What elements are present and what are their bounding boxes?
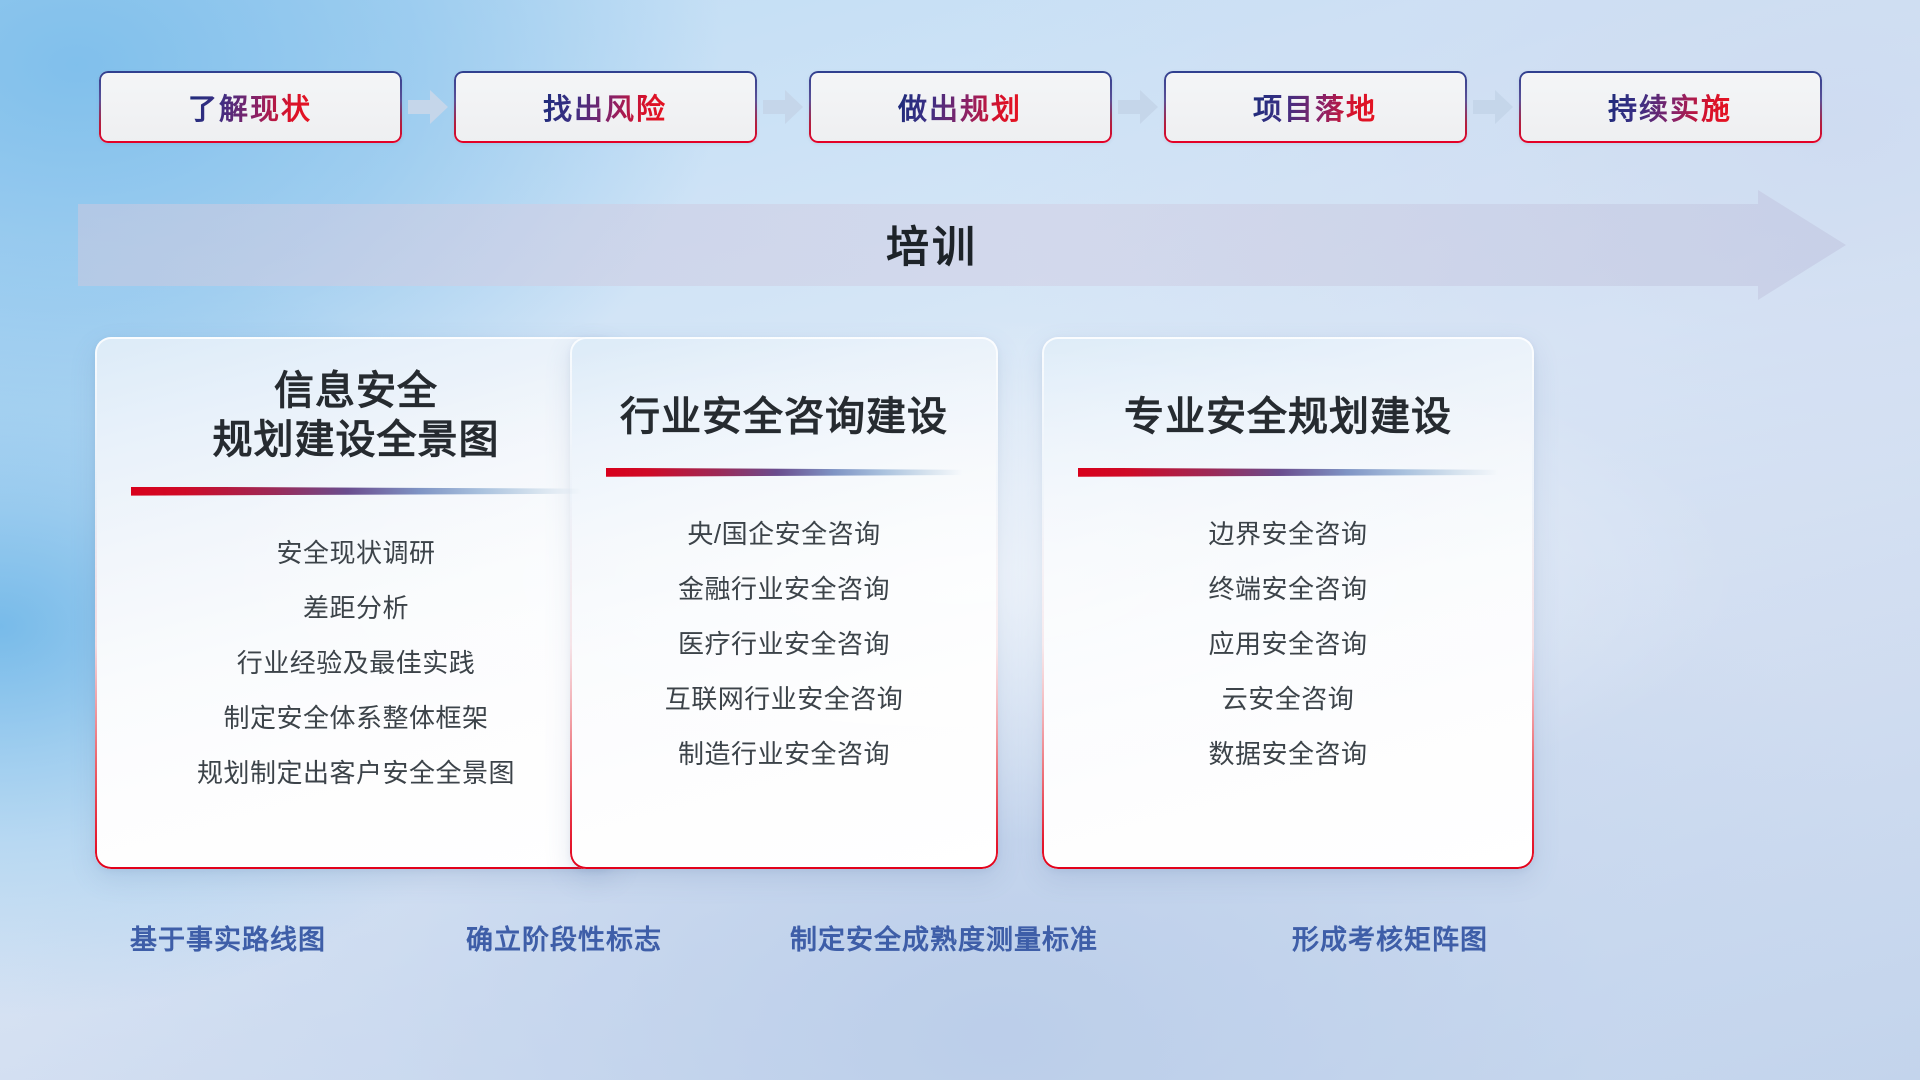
step-label: 持续实施 <box>1608 86 1732 128</box>
card-title: 专业安全规划建设 <box>1072 337 1504 442</box>
step-label: 找出风险 <box>543 86 667 128</box>
list-item: 边界安全咨询 <box>1072 507 1504 562</box>
card-professional-security-planning[interactable]: 专业安全规划建设 边界安全咨询 终端安全咨询 应用安全咨询 云安全咨询 数据安全… <box>1042 337 1534 869</box>
card-industry-security-consulting[interactable]: 行业安全咨询建设 央/国企安全咨询 金融行业安全咨询 医疗行业安全咨询 互联网行… <box>570 337 998 869</box>
card-title-line1: 行业安全咨询建设 <box>600 393 968 442</box>
card-title: 信息安全 规划建设全景图 <box>125 337 587 465</box>
card-title: 行业安全咨询建设 <box>600 337 968 442</box>
step-pill-5[interactable]: 持续实施 <box>1519 71 1822 143</box>
card-title-line1: 信息安全 <box>125 367 587 416</box>
card-item-list: 央/国企安全咨询 金融行业安全咨询 医疗行业安全咨询 互联网行业安全咨询 制造行… <box>600 507 968 782</box>
bottom-captions: 基于事实路线图 确立阶段性标志 制定安全成熟度测量标准 形成考核矩阵图 <box>0 918 1920 968</box>
card-divider <box>131 487 581 496</box>
card-title-line2: 规划建设全景图 <box>125 416 587 465</box>
arrow-right-icon <box>402 71 454 143</box>
card-info-security-blueprint[interactable]: 信息安全 规划建设全景图 安全现状调研 差距分析 行业经验及最佳实践 制定安全体… <box>95 337 617 869</box>
card-divider <box>1078 468 1498 477</box>
list-item: 应用安全咨询 <box>1072 617 1504 672</box>
list-item: 金融行业安全咨询 <box>600 562 968 617</box>
arrow-right-icon <box>1112 71 1164 143</box>
step-pill-3[interactable]: 做出规划 <box>809 71 1112 143</box>
list-item: 数据安全咨询 <box>1072 727 1504 782</box>
list-item: 安全现状调研 <box>125 526 587 581</box>
training-banner: 培训 <box>78 190 1846 300</box>
step-pill-4[interactable]: 项目落地 <box>1164 71 1467 143</box>
list-item: 互联网行业安全咨询 <box>600 672 968 727</box>
card-item-list: 边界安全咨询 终端安全咨询 应用安全咨询 云安全咨询 数据安全咨询 <box>1072 507 1504 782</box>
list-item: 制定安全体系整体框架 <box>125 691 587 746</box>
process-steps: 了解现状 找出风险 做出规划 项目落地 持续实施 <box>0 70 1920 144</box>
caption-matrix: 形成考核矩阵图 <box>1292 918 1488 957</box>
arrow-right-icon <box>1467 71 1519 143</box>
card-group: 信息安全 规划建设全景图 安全现状调研 差距分析 行业经验及最佳实践 制定安全体… <box>0 337 1920 869</box>
step-label: 项目落地 <box>1253 86 1377 128</box>
step-pill-2[interactable]: 找出风险 <box>454 71 757 143</box>
card-item-list: 安全现状调研 差距分析 行业经验及最佳实践 制定安全体系整体框架 规划制定出客户… <box>125 526 587 801</box>
list-item: 制造行业安全咨询 <box>600 727 968 782</box>
list-item: 规划制定出客户安全全景图 <box>125 746 587 801</box>
list-item: 央/国企安全咨询 <box>600 507 968 562</box>
list-item: 医疗行业安全咨询 <box>600 617 968 672</box>
caption-milestone: 确立阶段性标志 <box>466 918 662 957</box>
card-divider <box>606 468 962 477</box>
list-item: 行业经验及最佳实践 <box>125 636 587 691</box>
step-label: 了解现状 <box>188 86 312 128</box>
list-item: 云安全咨询 <box>1072 672 1504 727</box>
list-item: 差距分析 <box>125 581 587 636</box>
training-banner-label: 培训 <box>886 213 978 275</box>
list-item: 终端安全咨询 <box>1072 562 1504 617</box>
caption-maturity: 制定安全成熟度测量标准 <box>790 918 1098 957</box>
step-pill-1[interactable]: 了解现状 <box>99 71 402 143</box>
caption-roadmap: 基于事实路线图 <box>130 918 326 957</box>
card-title-line1: 专业安全规划建设 <box>1072 393 1504 442</box>
step-label: 做出规划 <box>898 86 1022 128</box>
slide-canvas: 了解现状 找出风险 做出规划 项目落地 持续实施 培训 <box>0 0 1920 1080</box>
arrow-right-icon <box>757 71 809 143</box>
